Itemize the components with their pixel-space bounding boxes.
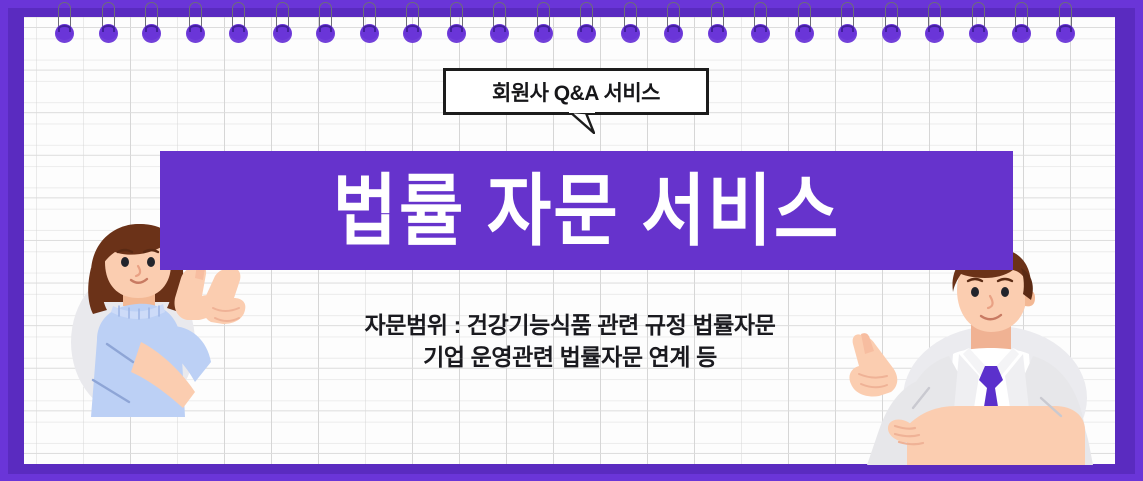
subtitle-line-1: 자문범위 : 건강기능식품 관련 규정 법률자문 [365, 312, 776, 338]
banner-stage: 법률 자문 서비스 회원사 Q&A 서비스 자문범위 : 건강기능식품 관련 규… [0, 0, 1143, 481]
title-banner: 법률 자문 서비스 [160, 151, 1013, 270]
subtitle-line-2: 기업 운영관련 법률자문 연계 등 [250, 342, 890, 374]
page-title: 법률 자문 서비스 [333, 171, 841, 249]
speech-bubble-label: 회원사 Q&A 서비스 [492, 77, 660, 107]
subtitle-block: 자문범위 : 건강기능식품 관련 규정 법률자문 기업 운영관련 법률자문 연계… [250, 310, 890, 373]
speech-bubble: 회원사 Q&A 서비스 [443, 68, 709, 115]
speech-bubble-tail-icon [569, 112, 595, 134]
